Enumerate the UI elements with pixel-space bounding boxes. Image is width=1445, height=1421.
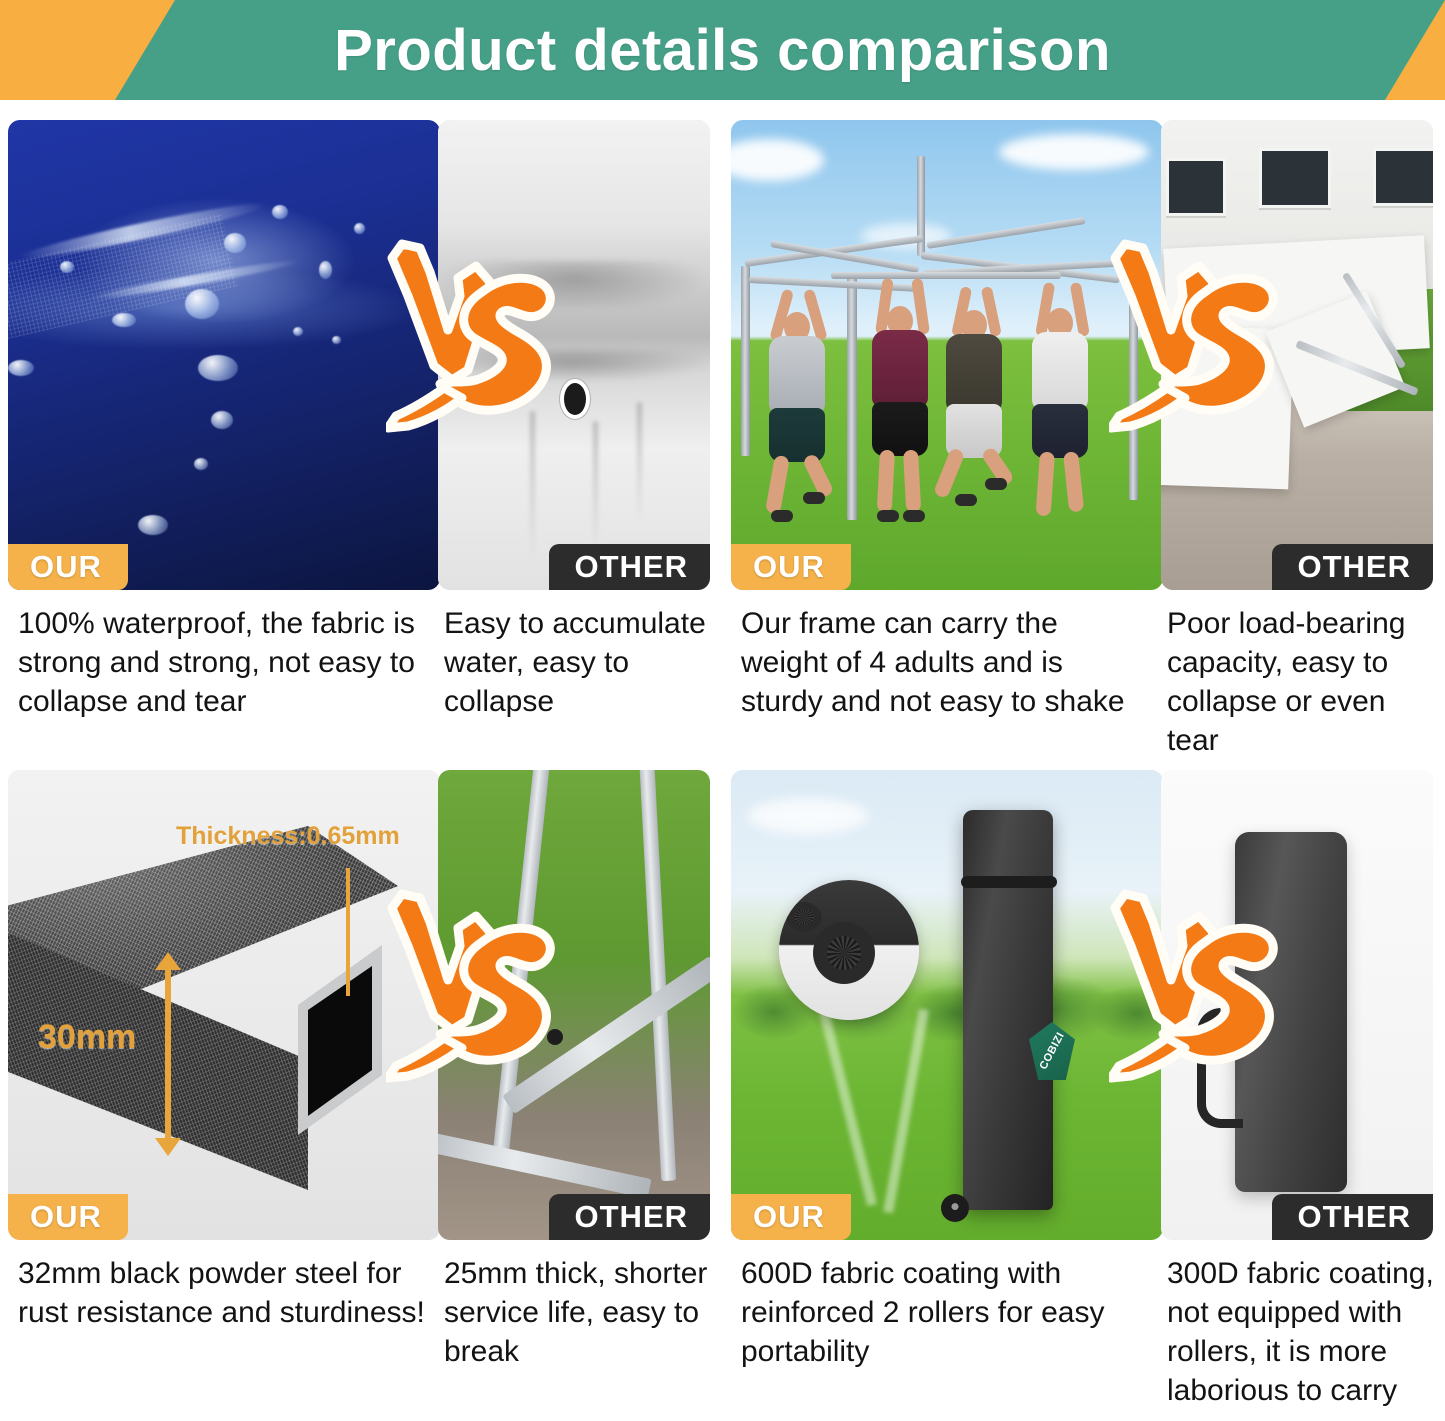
- water-droplet: [332, 336, 341, 344]
- leg: [765, 455, 790, 515]
- cloud: [748, 798, 868, 834]
- cloud: [731, 139, 824, 181]
- leg: [877, 450, 895, 513]
- bag-strap: [961, 876, 1057, 888]
- our-caption: 32mm black powder steel for rust resista…: [18, 1254, 444, 1390]
- our-caption: 100% waterproof, the fabric is strong an…: [18, 604, 444, 740]
- our-badge: OUR: [731, 544, 851, 590]
- our-photo-carry-bag: COBIZI OUR: [731, 770, 1163, 1240]
- other-photo-waterproof: OTHER: [438, 120, 710, 590]
- arrow-head-up: [155, 952, 181, 970]
- other-photo-carry-bag: OTHER: [1161, 770, 1433, 1240]
- arm: [911, 278, 930, 335]
- shorts: [1032, 404, 1088, 458]
- page-title: Product details comparison: [0, 0, 1445, 100]
- our-badge: OUR: [8, 1194, 128, 1240]
- wheel-magnifier: [779, 880, 919, 1020]
- roller-wheel-closeup: [813, 922, 875, 984]
- water-droplet: [224, 233, 246, 253]
- shoe: [955, 494, 977, 506]
- water-droplet: [354, 223, 365, 234]
- frame-bar: [639, 770, 676, 1181]
- fabric-fold: [530, 411, 535, 561]
- steel-tube-image: Thickness:0.65mm 30mm: [8, 770, 440, 1240]
- thin-frame-image: [438, 770, 710, 1240]
- carry-bag: [963, 810, 1053, 1210]
- width-annotation: 30mm: [38, 1018, 136, 1057]
- product-comparison-infographic: Product details comparison: [0, 0, 1445, 1421]
- shoe: [803, 492, 825, 504]
- comparison-grid: OUR OTHER: [0, 100, 1445, 1421]
- window: [1166, 158, 1226, 216]
- our-badge: OUR: [731, 1194, 851, 1240]
- image-pair-carry-bag: COBIZI OUR: [723, 750, 1445, 1240]
- other-badge: OTHER: [549, 1194, 711, 1240]
- roller-wheel-closeup: [787, 902, 821, 932]
- canopy-beam: [831, 272, 1061, 279]
- water-droplet: [185, 289, 219, 319]
- other-caption: 300D fabric coating, not equipped with r…: [1167, 1254, 1435, 1390]
- width-dimension-line: [165, 968, 171, 1140]
- image-pair-load-bearing: OUR: [723, 100, 1445, 590]
- bag-roller-wheel: [941, 1194, 969, 1222]
- water-splash: [138, 515, 168, 535]
- fabric-sag-shadow: [438, 350, 710, 380]
- fabric-fold: [593, 421, 598, 551]
- fabric-grommet: [560, 379, 590, 419]
- caption-row-steel-tube: 32mm black powder steel for rust resista…: [0, 1240, 722, 1390]
- caption-row-waterproof: 100% waterproof, the fabric is strong an…: [0, 590, 722, 740]
- torso: [946, 334, 1002, 412]
- fabric-sag-shadow: [438, 261, 710, 307]
- thickness-annotation: Thickness:0.65mm: [176, 822, 400, 851]
- water-droplet: [8, 360, 34, 376]
- plain-carry-bag: [1235, 832, 1347, 1192]
- comparison-block-waterproof: OUR OTHER: [0, 100, 722, 740]
- water-splash: [211, 411, 233, 429]
- other-badge: OTHER: [1272, 544, 1434, 590]
- leg: [933, 447, 966, 499]
- other-photo-load-bearing: OTHER: [1161, 120, 1433, 590]
- image-pair-steel-tube: Thickness:0.65mm 30mm OUR: [0, 750, 722, 1240]
- torso: [872, 330, 928, 408]
- grey-sagging-fabric-image: [438, 120, 710, 590]
- caption-row-load-bearing: Our frame can carry the weight of 4 adul…: [723, 590, 1445, 740]
- other-caption: 25mm thick, shorter service life, easy t…: [444, 1254, 712, 1390]
- shoe: [771, 510, 793, 522]
- leg: [1036, 451, 1055, 516]
- other-caption: Easy to accumulate water, easy to collap…: [444, 604, 712, 740]
- water-droplet: [272, 205, 288, 219]
- other-badge: OTHER: [549, 544, 711, 590]
- thickness-leader-line: [346, 868, 350, 996]
- shorts: [872, 402, 928, 456]
- shoe: [985, 478, 1007, 490]
- window: [1259, 148, 1331, 208]
- frame-cross-bar: [438, 1132, 651, 1199]
- water-droplet: [319, 261, 332, 279]
- image-pair-waterproof: OUR OTHER: [0, 100, 722, 590]
- shoe: [903, 510, 925, 522]
- our-caption: Our frame can carry the weight of 4 adul…: [741, 604, 1167, 740]
- header-banner: Product details comparison: [0, 0, 1445, 100]
- frame-rivet: [547, 1029, 563, 1045]
- water-splash: [198, 355, 238, 381]
- our-photo-steel-tube: Thickness:0.65mm 30mm OUR: [8, 770, 440, 1240]
- canopy-load-test-image: [731, 120, 1163, 590]
- torso: [1032, 332, 1088, 410]
- water-droplet: [194, 458, 208, 470]
- torso: [769, 336, 825, 414]
- arm: [1070, 282, 1090, 337]
- plain-bag-image: [1161, 770, 1433, 1240]
- cloud: [999, 134, 1149, 170]
- brand-logo-text: COBIZI: [1037, 1030, 1067, 1071]
- fabric-fold: [637, 402, 642, 522]
- water-droplet: [112, 313, 136, 327]
- caption-row-carry-bag: 600D fabric coating with reinforced 2 ro…: [723, 1240, 1445, 1390]
- blue-fabric-image: [8, 120, 440, 590]
- other-caption: Poor load-bearing capacity, easy to coll…: [1167, 604, 1435, 740]
- cobizi-bag-image: COBIZI: [731, 770, 1163, 1240]
- other-photo-steel-tube: OTHER: [438, 770, 710, 1240]
- shoe: [877, 510, 899, 522]
- our-caption: 600D fabric coating with reinforced 2 ro…: [741, 1254, 1167, 1390]
- comparison-block-steel-tube: Thickness:0.65mm 30mm OUR: [0, 750, 722, 1390]
- window: [1373, 148, 1433, 206]
- comparison-block-carry-bag: COBIZI OUR: [723, 750, 1445, 1390]
- canopy-leg: [847, 278, 857, 520]
- shorts: [769, 408, 825, 462]
- leg: [1063, 451, 1084, 512]
- our-badge: OUR: [8, 544, 128, 590]
- frame-cross-bar: [502, 956, 710, 1114]
- comparison-block-load-bearing: OUR: [723, 100, 1445, 740]
- canopy-leg: [741, 266, 750, 456]
- other-badge: OTHER: [1272, 1194, 1434, 1240]
- arrow-head-down: [155, 1138, 181, 1156]
- water-droplet: [60, 261, 74, 273]
- canopy-leg: [1129, 270, 1138, 500]
- water-droplet: [293, 327, 303, 336]
- our-photo-waterproof: OUR: [8, 120, 440, 590]
- collapsed-canopy-image: [1161, 120, 1433, 590]
- our-photo-load-bearing: OUR: [731, 120, 1163, 590]
- bag-shoulder-strap: [1197, 1008, 1243, 1128]
- leg: [903, 450, 921, 513]
